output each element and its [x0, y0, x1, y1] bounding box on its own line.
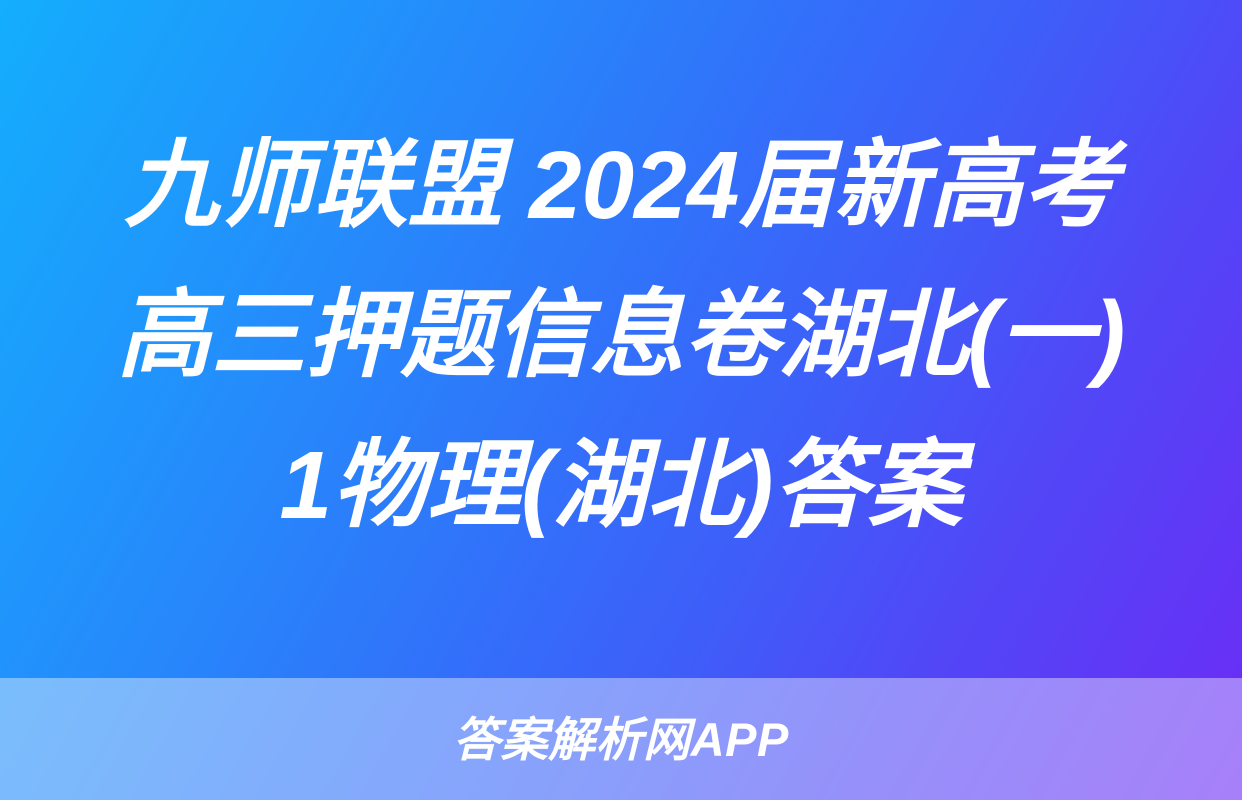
watermark-label: 答案解析网APP — [453, 711, 789, 769]
title-line-3: 1物理(湖北)答案 — [9, 411, 1232, 561]
title-block: 九师联盟 2024届新高考 高三押题信息卷湖北(一) 1物理(湖北)答案 — [0, 0, 1242, 678]
banner-image: 九师联盟 2024届新高考 高三押题信息卷湖北(一) 1物理(湖北)答案 答案解… — [0, 0, 1242, 800]
title-line-1: 九师联盟 2024届新高考 — [9, 111, 1232, 261]
watermark-band: 答案解析网APP — [0, 678, 1242, 800]
title-line-2: 高三押题信息卷湖北(一) — [9, 261, 1232, 411]
